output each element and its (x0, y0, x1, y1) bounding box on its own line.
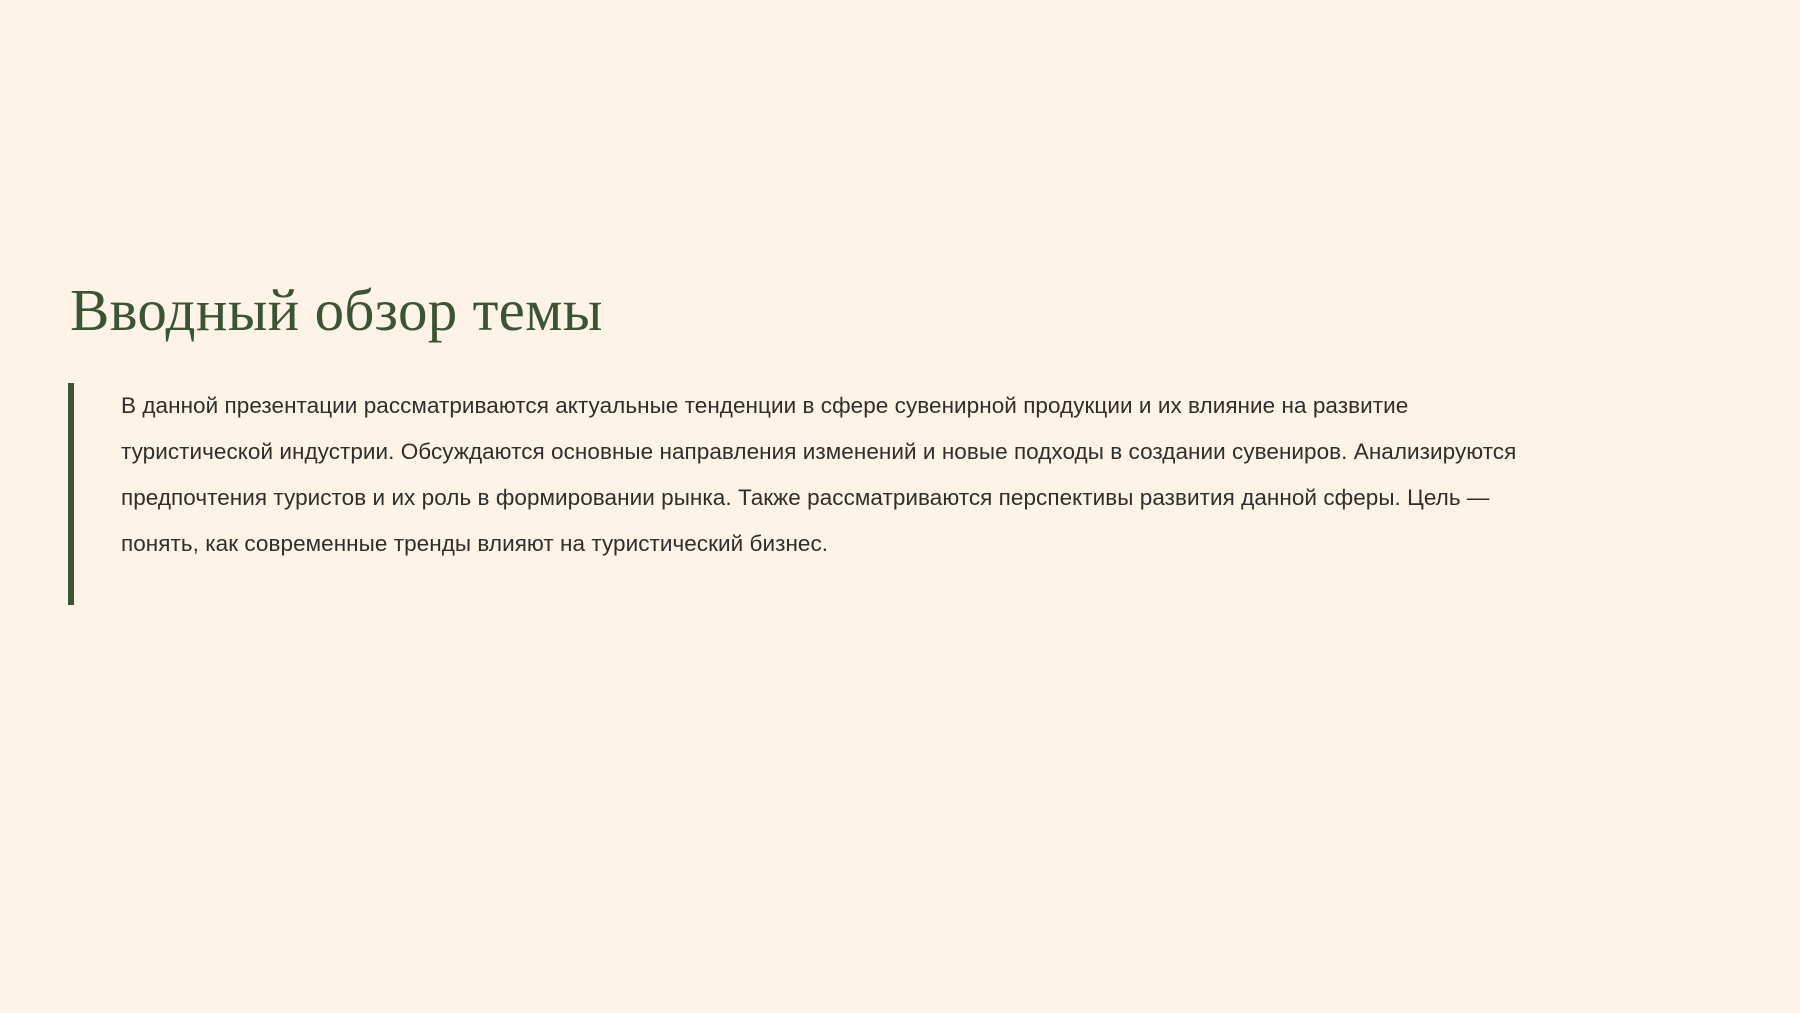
page-title: Вводный обзор темы (70, 277, 603, 343)
body-paragraph: В данной презентации рассматриваются акт… (74, 383, 1518, 605)
body-content-block: В данной презентации рассматриваются акт… (68, 383, 1518, 605)
presentation-slide: Вводный обзор темы В данной презентации … (0, 0, 1800, 1013)
